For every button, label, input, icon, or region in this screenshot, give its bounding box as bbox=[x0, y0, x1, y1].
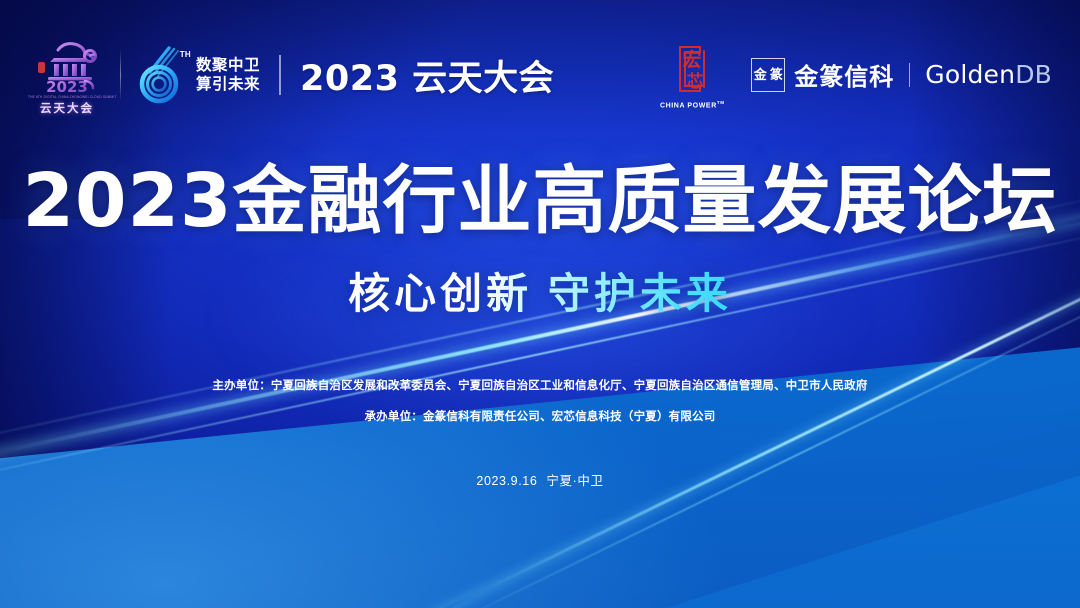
header-right-group: 宏 芯 CHINA POWERTM 金 篆 金篆信科 GoldenDB bbox=[657, 41, 1052, 109]
six-numeral-icon: TH bbox=[135, 44, 187, 106]
trademark-mark: TM bbox=[717, 100, 725, 105]
svg-text:芯: 芯 bbox=[687, 71, 704, 92]
goldendb-brand-divider bbox=[909, 63, 910, 87]
slogan-line-1: 数聚中卫 bbox=[196, 57, 260, 74]
page-title: 2023金融行业高质量发展论坛 bbox=[23, 164, 1058, 238]
yuntian-emblem-cn-text: 云天大会 bbox=[28, 100, 106, 116]
hongxin-logo: 宏 芯 CHINA POWERTM bbox=[657, 41, 727, 109]
yuntian-emblem-latin-text: THE 6TH DIGITAL CHINA ZHONGWEI CLOUD SUM… bbox=[28, 95, 106, 99]
organizer-line-host: 主办单位：宁夏回族自治区发展和改革委员会、宁夏回族自治区工业和信息化厅、宁夏回族… bbox=[212, 381, 867, 393]
hongxin-mark-icon: 宏 芯 bbox=[664, 41, 720, 97]
goldendb-brand-cn: 金篆信科 bbox=[794, 57, 894, 92]
organizer-line-undertaker: 承办单位：金篆信科有限责任公司、宏芯信息科技（宁夏）有限公司 bbox=[212, 412, 867, 424]
poster-main: 2023金融行业高质量发展论坛 核心创新 守护未来 主办单位：宁夏回族自治区发展… bbox=[0, 150, 1080, 489]
poster-header: 2023 THE 6TH DIGITAL CHINA ZHONGWEI CLOU… bbox=[0, 0, 1080, 150]
conference-name: 2023 云天大会 bbox=[300, 50, 554, 101]
event-datetime-location: 2023.9.16宁夏·中卫 bbox=[476, 470, 603, 489]
header-left-group: 2023 THE 6TH DIGITAL CHINA ZHONGWEI CLOU… bbox=[28, 38, 554, 112]
sixth-edition-group: TH 数聚中卫 算引未来 2023 云天大会 bbox=[135, 44, 554, 106]
header-divider-2 bbox=[279, 55, 281, 95]
conference-slogan: 数聚中卫 算引未来 bbox=[196, 57, 260, 93]
event-date: 2023.9.16 bbox=[476, 474, 537, 488]
seal-char-2: 篆 bbox=[770, 68, 783, 81]
goldendb-seal-icon: 金 篆 bbox=[751, 58, 785, 92]
goldendb-logo: 金 篆 金篆信科 GoldenDB bbox=[751, 57, 1052, 92]
goldendb-brand-en: GoldenDB bbox=[925, 60, 1052, 89]
page-subtitle: 核心创新 守护未来 bbox=[348, 260, 732, 321]
event-location: 宁夏·中卫 bbox=[546, 474, 603, 488]
slogan-line-2: 算引未来 bbox=[196, 76, 260, 93]
svg-text:宏: 宏 bbox=[683, 48, 702, 71]
goldendb-brand-en-secondary: DB bbox=[1015, 60, 1052, 89]
poster-canvas: 2023 THE 6TH DIGITAL CHINA ZHONGWEI CLOU… bbox=[0, 0, 1080, 608]
svg-text:2023: 2023 bbox=[46, 78, 88, 96]
header-divider-1 bbox=[120, 49, 121, 101]
seal-char-1: 金 bbox=[754, 68, 767, 81]
ordinal-suffix-label: TH bbox=[180, 50, 191, 59]
yuntian-emblem: 2023 THE 6TH DIGITAL CHINA ZHONGWEI CLOU… bbox=[28, 38, 106, 112]
hongxin-subtitle: CHINA POWERTM bbox=[660, 100, 725, 109]
goldendb-brand-en-primary: Golden bbox=[925, 60, 1015, 89]
organizer-block: 主办单位：宁夏回族自治区发展和改革委员会、宁夏回族自治区工业和信息化厅、宁夏回族… bbox=[212, 381, 867, 423]
yuntian-emblem-mark: 2023 THE 6TH DIGITAL CHINA ZHONGWEI CLOU… bbox=[28, 38, 106, 112]
